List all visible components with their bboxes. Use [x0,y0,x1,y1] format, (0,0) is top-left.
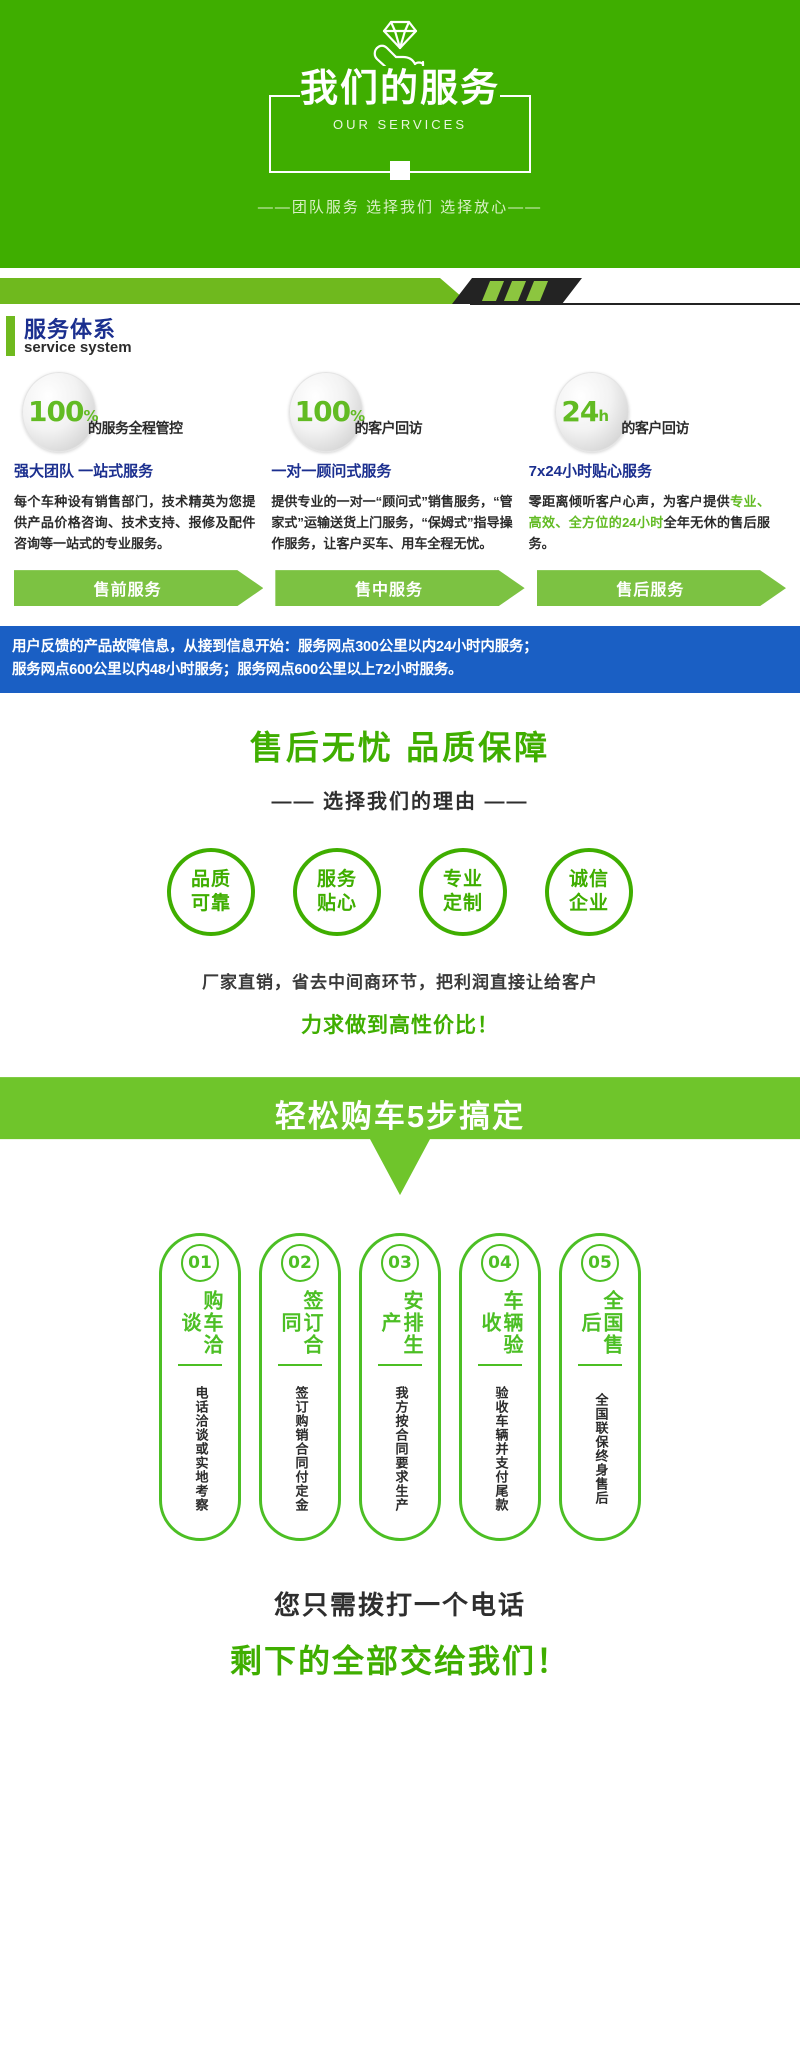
column-body: 每个车种设有销售部门，技术精英为您提供产品价格咨询、技术支持、报修及配件咨询等一… [14,491,255,554]
reason-circle: 服务 贴心 [293,848,381,936]
badge-number: 24 [561,395,598,428]
service-system-title-en: service system [24,339,132,356]
step-divider [478,1364,522,1366]
reason-circle: 品质 可靠 [167,848,255,936]
step-item: 02 签订合同 签订购销合同付定金 [259,1233,341,1541]
reason-line-1: 品质 [191,868,231,892]
service-column: 7x24小时贴心服务 零距离倾听客户心声，为客户提供专业、高效、全方位的24小时… [529,460,786,554]
column-title: 强大团队 一站式服务 [14,460,255,481]
reasons-title: 售后无忧 品质保障 [0,721,800,769]
badge-label: 的客户回访 [621,418,689,438]
step-number: 04 [481,1244,519,1282]
hero-subtitle: OUR SERVICES [0,117,800,132]
hero-banner: 我们的服务 OUR SERVICES ——团队服务 选择我们 选择放心—— [0,0,800,268]
arrow-label: 轻松购车5步搞定 [0,1091,800,1136]
purchase-steps-row: 01 购车洽谈 电话洽谈或实地考察 02 签订合同 签订购销合同付定金 03 安… [0,1233,800,1541]
step-description: 全国联保终身售后 [593,1374,608,1524]
step-title: 购车洽谈 [178,1290,222,1356]
step-divider [278,1364,322,1366]
column-title: 7x24小时贴心服务 [529,460,770,481]
step-description: 验收车辆并支付尾款 [493,1374,508,1524]
step-divider [178,1364,222,1366]
step-number: 05 [581,1244,619,1282]
cta-line-2: 剩下的全部交给我们！ [0,1636,800,1682]
reason-circle: 诚信 企业 [545,848,633,936]
step-divider [378,1364,422,1366]
banner-line-2: 服务网点600公里以内48小时服务；服务网点600公里以上72小时服务。 [12,659,788,681]
tab-label: 售中服务 [355,576,423,600]
service-stage-tabs: 售前服务 售中服务 售后服务 [0,570,800,616]
reason-circle: 专业 定制 [419,848,507,936]
step-number: 01 [181,1244,219,1282]
step-number: 02 [281,1244,319,1282]
step-description: 电话洽谈或实地考察 [193,1374,208,1524]
badge-item: 24h 的客户回访 [533,370,800,460]
purchase-steps-arrow: 轻松购车5步搞定 [0,1077,800,1195]
step-title: 签订合同 [278,1290,322,1356]
step-title: 车辆验收 [478,1290,522,1356]
badge-value: 24h [561,398,608,426]
step-title: 全国售后 [578,1290,622,1356]
column-body: 提供专业的一对一“顾问式”销售服务，“管家式”运输送货上门服务，“保姆式”指导操… [271,491,512,554]
tab-label: 售后服务 [616,576,684,600]
reasons-section: 售后无忧 品质保障 —— 选择我们的理由 —— 品质 可靠 服务 贴心 专业 定… [0,693,800,1039]
column-body-pre: 零距离倾听客户心声，为客户提供 [529,494,730,509]
reasons-footer-1: 厂家直销，省去中间商环节，把利润直接让给客户 [0,968,800,993]
badge-row: 100% 的服务全程管控 100% 的客户回访 24h 的客户回访 [0,370,800,460]
step-item: 05 全国售后 全国联保终身售后 [559,1233,641,1541]
badge-label: 的客户回访 [355,418,423,438]
step-item: 03 安排生产 我方按合同要求生产 [359,1233,441,1541]
reason-circle-row: 品质 可靠 服务 贴心 专业 定制 诚信 企业 [0,848,800,936]
column-body: 零距离倾听客户心声，为客户提供专业、高效、全方位的24小时全年无休的售后服务。 [529,491,770,554]
step-item: 01 购车洽谈 电话洽谈或实地考察 [159,1233,241,1541]
badge-unit: h [598,407,608,425]
step-number: 03 [381,1244,419,1282]
column-title: 一对一顾问式服务 [271,460,512,481]
reasons-footer-2: 力求做到高性价比！ [0,1009,800,1039]
reason-line-2: 可靠 [191,892,231,916]
service-column: 一对一顾问式服务 提供专业的一对一“顾问式”销售服务，“管家式”运输送货上门服务… [271,460,528,554]
reason-line-1: 服务 [317,868,357,892]
reason-line-2: 定制 [443,892,483,916]
badge-number: 100 [295,395,350,428]
tab-label: 售前服务 [94,576,162,600]
step-item: 04 车辆验收 验收车辆并支付尾款 [459,1233,541,1541]
badge-item: 100% 的服务全程管控 [0,370,267,460]
badge-item: 100% 的客户回访 [267,370,534,460]
banner-line-1: 用户反馈的产品故障信息，从接到信息开始：服务网点300公里以内24小时内服务； [12,636,788,658]
tab-after-sales[interactable]: 售后服务 [537,570,786,606]
band-rule [470,303,800,305]
service-columns: 强大团队 一站式服务 每个车种设有销售部门，技术精英为您提供产品价格咨询、技术支… [0,460,800,554]
call-to-action: 您只需拨打一个电话 剩下的全部交给我们！ [0,1585,800,1708]
reason-line-2: 贴心 [317,892,357,916]
reasons-subtitle: —— 选择我们的理由 —— [0,785,800,814]
service-system-heading: 服务体系 service system [0,312,800,370]
step-divider [578,1364,622,1366]
reason-line-1: 诚信 [569,868,609,892]
tab-pre-sales[interactable]: 售前服务 [14,570,263,606]
tab-in-sales[interactable]: 售中服务 [275,570,524,606]
badge-label: 的服务全程管控 [88,418,183,438]
heading-accent-bar [6,316,15,356]
cta-line-1: 您只需拨打一个电话 [0,1585,800,1622]
service-column: 强大团队 一站式服务 每个车种设有销售部门，技术精英为您提供产品价格咨询、技术支… [14,460,271,554]
band-green-shape [0,278,470,304]
badge-number: 100 [28,395,83,428]
step-title: 安排生产 [378,1290,422,1356]
reason-line-1: 专业 [443,868,483,892]
hero-tagline: ——团队服务 选择我们 选择放心—— [0,196,800,217]
step-description: 我方按合同要求生产 [393,1374,408,1524]
step-description: 签订购销合同付定金 [293,1374,308,1524]
reason-line-2: 企业 [569,892,609,916]
decorative-band [0,268,800,312]
page-title: 我们的服务 [0,70,800,108]
response-time-banner: 用户反馈的产品故障信息，从接到信息开始：服务网点300公里以内24小时内服务； … [0,626,800,693]
